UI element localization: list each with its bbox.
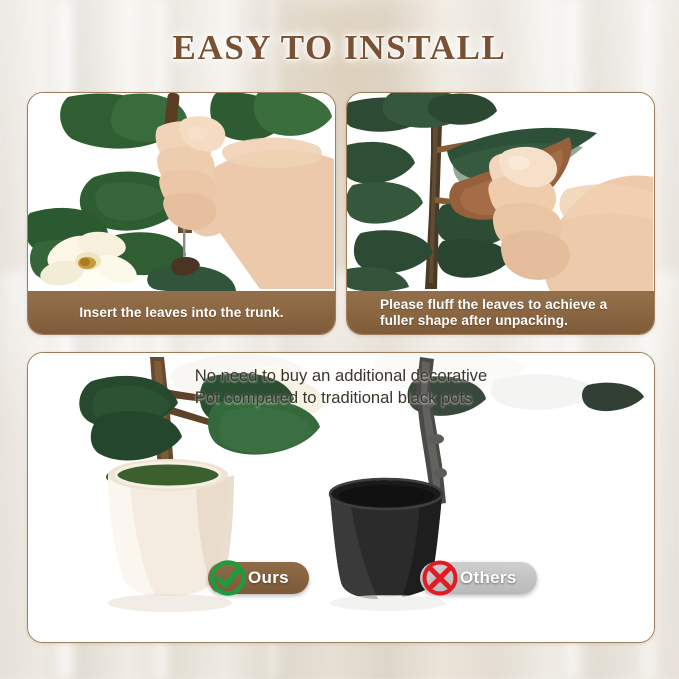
comparison-line-1: No need to buy an additional decorative	[195, 366, 487, 385]
comparison-panel: No need to buy an additional decorativeP…	[27, 352, 655, 643]
badge-ours-label: Ours	[248, 568, 289, 588]
infographic-page: EASY TO INSTALL	[0, 0, 679, 679]
check-circle-icon	[208, 558, 248, 598]
caption-text-insert-leaves: Insert the leaves into the trunk.	[79, 305, 283, 321]
caption-line-2: fuller shape after unpacking.	[380, 313, 568, 328]
comparison-caption: No need to buy an additional decorativeP…	[28, 365, 654, 408]
caption-bar-insert-leaves: Insert the leaves into the trunk.	[27, 291, 336, 335]
badge-others: Others	[420, 562, 537, 594]
page-title: EASY TO INSTALL	[0, 28, 679, 68]
caption-text-fluff-leaves: Please fluff the leaves to achieve afull…	[380, 297, 607, 329]
step-panel-insert-leaves: Insert the leaves into the trunk.	[27, 92, 336, 335]
badge-ours: Ours	[208, 562, 309, 594]
x-circle-icon	[420, 558, 460, 598]
badge-others-label: Others	[460, 568, 517, 588]
caption-bar-fluff-leaves: Please fluff the leaves to achieve afull…	[346, 291, 655, 335]
comparison-caption-text: No need to buy an additional decorativeP…	[195, 365, 487, 408]
caption-line-1: Please fluff the leaves to achieve a	[380, 297, 607, 312]
step-panel-fluff-leaves: Please fluff the leaves to achieve afull…	[346, 92, 655, 335]
comparison-line-2: Pot compared to traditional black pots	[195, 388, 473, 407]
